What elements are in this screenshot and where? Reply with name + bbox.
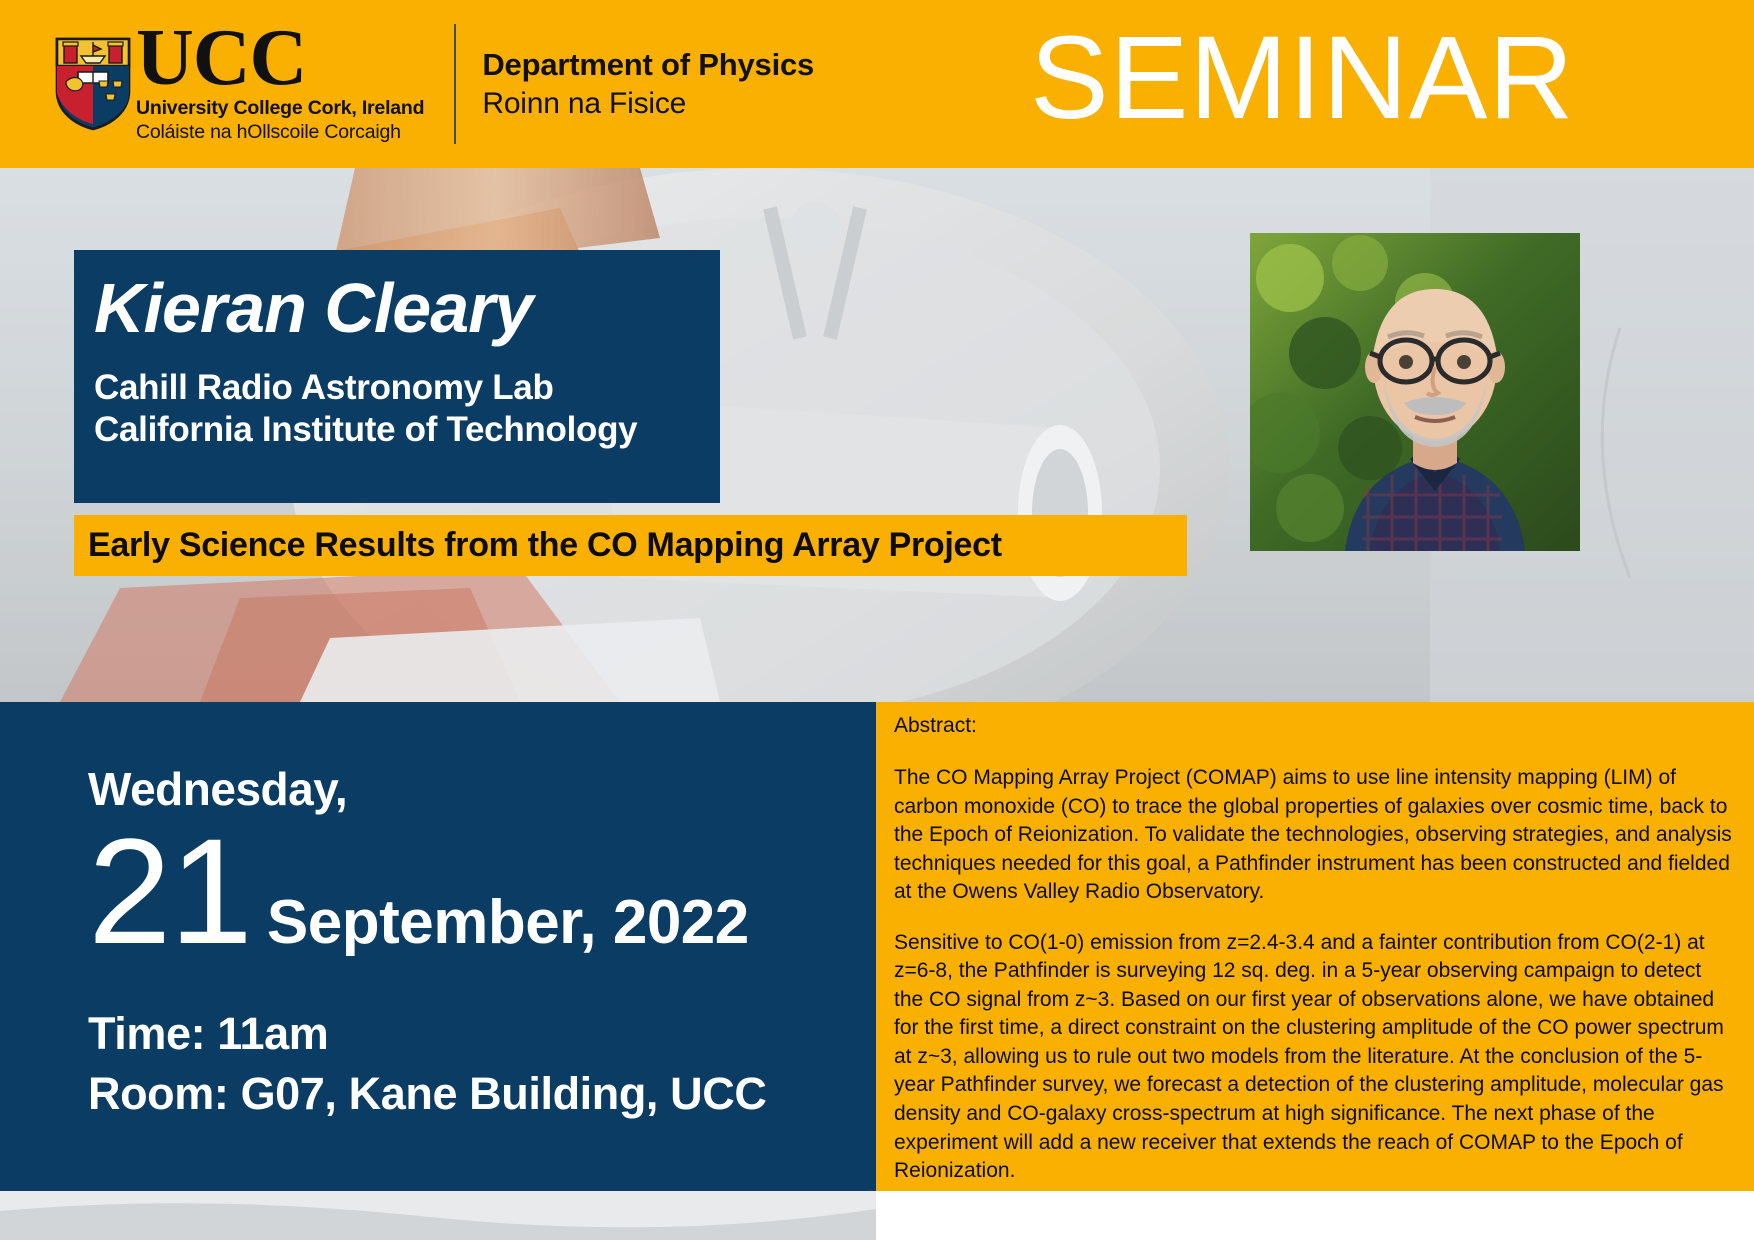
event-time: Time: 11am [88,1008,876,1060]
abstract-paragraph-2: Sensitive to CO(1-0) emission from z=2.4… [894,929,1732,1186]
event-day-number: 21 [88,822,251,960]
poster-header: UCC University College Cork, Ireland Col… [0,0,1754,168]
speaker-affiliation-institution: California Institute of Technology [94,410,720,450]
footer-photo-icon [0,1191,1754,1240]
event-month-year: September, 2022 [267,887,749,958]
abstract-panel: Abstract: The CO Mapping Array Project (… [876,702,1754,1191]
header-divider [454,24,456,144]
speaker-info-block: Kieran Cleary Cahill Radio Astronomy Lab… [74,250,720,503]
abstract-label: Abstract: [894,714,1732,738]
speaker-portrait [1250,233,1580,551]
event-date-row: 21 September, 2022 [88,822,876,960]
department-lockup: Department of Physics Roinn na Fisice [482,47,814,121]
department-name-ga: Roinn na Fisice [482,87,814,121]
seminar-poster: UCC University College Cork, Ireland Col… [0,0,1754,1240]
ucc-wordmark: UCC University College Cork, Ireland Col… [136,24,424,145]
event-details-panel: Wednesday, 21 September, 2022 Time: 11am… [0,702,876,1191]
talk-title: Early Science Results from the CO Mappin… [88,526,1002,565]
event-type-title: SEMINAR [1030,8,1575,150]
ucc-logo-lockup: UCC University College Cork, Ireland Col… [54,9,424,159]
event-room: Room: G07, Kane Building, UCC [88,1068,876,1120]
university-name-en: University College Cork, Ireland [136,97,424,120]
speaker-portrait-icon [1250,233,1580,551]
department-name-en: Department of Physics [482,47,814,83]
talk-title-bar: Early Science Results from the CO Mappin… [74,515,1187,576]
university-name-ga: Coláiste na hOllscoile Corcaigh [136,121,424,144]
poster-footer-strip [0,1191,1754,1240]
speaker-name: Kieran Cleary [94,272,720,346]
ucc-crest-icon [54,36,132,132]
ucc-acronym: UCC [136,24,424,93]
speaker-affiliation-lab: Cahill Radio Astronomy Lab [94,368,720,408]
abstract-paragraph-1: The CO Mapping Array Project (COMAP) aim… [894,764,1732,907]
